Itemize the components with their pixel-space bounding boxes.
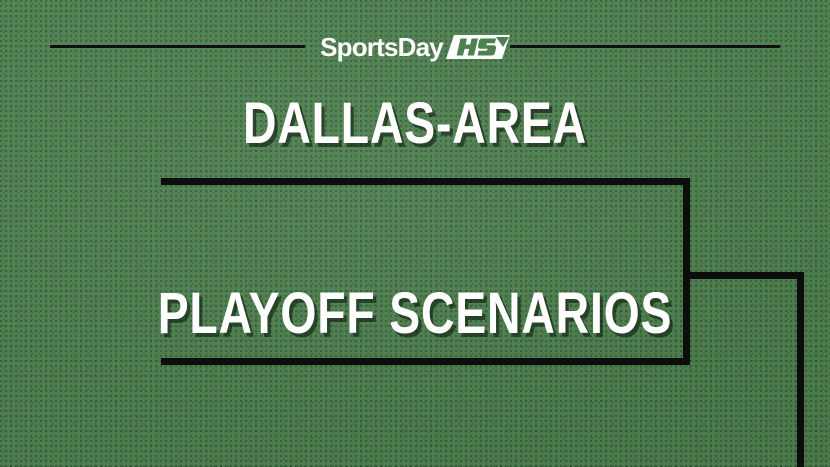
bracket-top-bar [161,178,690,185]
headline-title: PLAYOFF SCENARIOS [83,283,747,345]
promo-graphic: SportsDay DALLAS-AREA [0,0,830,467]
kicker-title: DALLAS-AREA [83,93,747,155]
bracket-bottom-bar [161,358,690,365]
bracket-stem [683,272,804,279]
halftone-texture-second [0,0,830,467]
hs-badge-icon [446,35,510,59]
vignette-overlay [0,0,830,467]
bracket-stem-down [797,272,804,467]
sportsdayhs-logo: SportsDay [0,30,830,64]
header-band: SportsDay [0,30,830,64]
bracket-graphic [0,0,830,467]
halftone-texture [0,0,830,467]
logo-wordmark: SportsDay [320,34,443,60]
